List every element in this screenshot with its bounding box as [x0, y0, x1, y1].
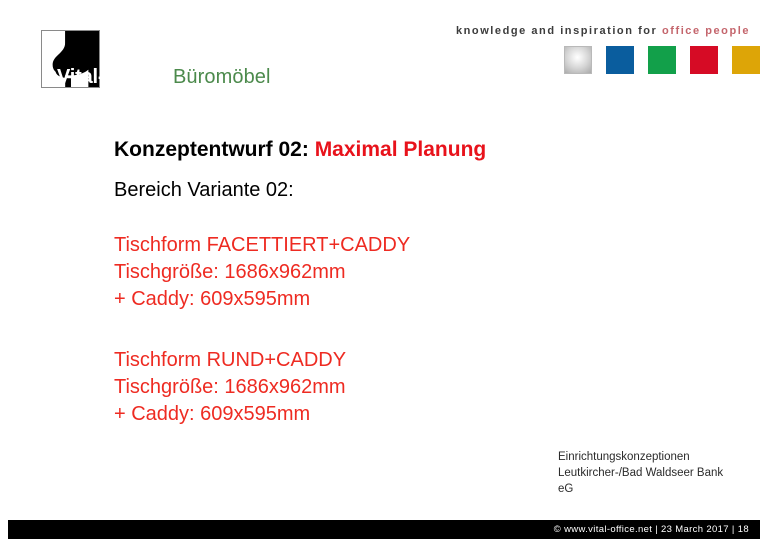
brand-logo: Vital-Office®Büromöbel: [41, 30, 100, 88]
swatch-silver: [564, 46, 592, 74]
brand-name-primary: Vital-Office: [57, 66, 160, 88]
spec-block-facettiert: Tischform FACETTIERT+CADDY Tischgröße: 1…: [114, 232, 410, 313]
brand-wordmark: Vital-Office®Büromöbel: [57, 67, 271, 87]
spec-line-form: Tischform RUND+CADDY: [114, 347, 346, 374]
spec-line-caddy-size: + Caddy: 609x595mm: [114, 401, 346, 428]
registered-trademark-icon: ®: [160, 65, 168, 77]
slide-footer-bar: © www.vital-office.net | 23 March 2017 |…: [8, 520, 760, 539]
slide-subtitle: Bereich Variante 02:: [114, 177, 294, 203]
credit-line-1: Einrichtungskonzeptionen: [558, 449, 763, 465]
spec-block-rund: Tischform RUND+CADDY Tischgröße: 1686x96…: [114, 347, 346, 428]
project-credit: Einrichtungskonzeptionen Leutkircher-/Ba…: [558, 449, 763, 497]
credit-line-2: Leutkircher-/Bad Waldseer Bank: [558, 465, 763, 481]
spec-line-table-size: Tischgröße: 1686x962mm: [114, 374, 346, 401]
swatch-gold: [732, 46, 760, 74]
swatch-red: [690, 46, 718, 74]
swatch-green: [648, 46, 676, 74]
spec-line-table-size: Tischgröße: 1686x962mm: [114, 259, 410, 286]
spec-line-form: Tischform FACETTIERT+CADDY: [114, 232, 410, 259]
slide-header: Vital-Office®Büromöbel knowledge and ins…: [0, 0, 768, 110]
header-tagline: knowledge and inspiration for office peo…: [398, 24, 750, 38]
slide-title-accent: Maximal Planung: [315, 138, 487, 161]
brand-color-swatches: [564, 46, 760, 74]
tagline-accent-text: office people: [662, 25, 750, 37]
spec-line-caddy-size: + Caddy: 609x595mm: [114, 286, 410, 313]
tagline-dark-text: knowledge and inspiration for: [456, 25, 662, 37]
slide-title: Konzeptentwurf 02: Maximal Planung: [114, 137, 486, 163]
footer-meta-text: © www.vital-office.net | 23 March 2017 |…: [554, 524, 760, 535]
swatch-blue: [606, 46, 634, 74]
brand-name-secondary: Büromöbel: [173, 66, 271, 88]
presentation-slide: Vital-Office®Büromöbel knowledge and ins…: [0, 0, 768, 543]
credit-line-3: eG: [558, 481, 763, 497]
slide-title-primary: Konzeptentwurf 02:: [114, 138, 309, 161]
